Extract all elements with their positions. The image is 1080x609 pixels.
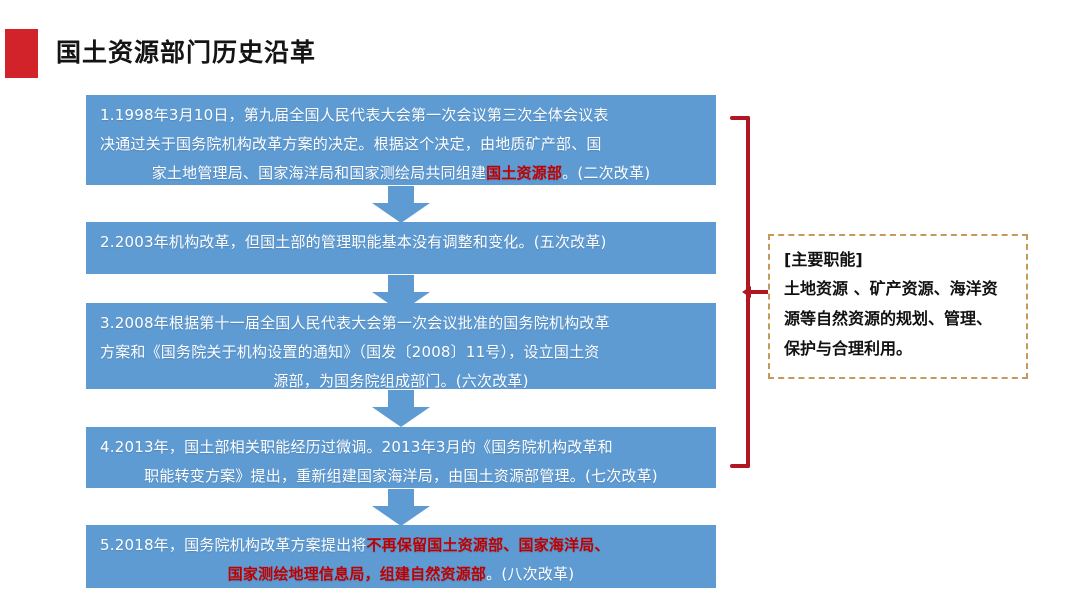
- main-functions-panel: [主要职能] 土地资源 、矿产资源、海洋资源等自然资源的规划、管理、保护与合理利…: [768, 234, 1028, 379]
- flow-step-3[interactable]: 3.2008年根据第十一届全国人民代表大会第一次会议批准的国务院机构改革方案和《…: [86, 303, 716, 389]
- down-arrow-icon: [372, 390, 430, 426]
- flow-step-line: 3.2008年根据第十一届全国人民代表大会第一次会议批准的国务院机构改革: [100, 309, 702, 338]
- main-functions-line: 土地资源 、矿产资源、海洋资: [784, 274, 1012, 304]
- main-functions-body: 土地资源 、矿产资源、海洋资源等自然资源的规划、管理、保护与合理利用。: [784, 274, 1012, 364]
- flow-step-line: 5.2018年，国务院机构改革方案提出将不再保留国土资源部、国家海洋局、: [100, 531, 702, 560]
- flow-step-1[interactable]: 1.1998年3月10日，第九届全国人民代表大会第一次会议第三次全体会议表决通过…: [86, 95, 716, 185]
- flow-step-line: 1.1998年3月10日，第九届全国人民代表大会第一次会议第三次全体会议表: [100, 101, 702, 130]
- bracket-top-tick: [730, 116, 750, 120]
- flow-step-line: 决通过关于国务院机构改革方案的决定。根据这个决定，由地质矿产部、国: [100, 130, 702, 159]
- flow-step-line: 4.2013年，国土部相关职能经历过微调。2013年3月的《国务院机构改革和: [100, 433, 702, 462]
- flow-step-line: 国家测绘地理信息局，组建自然资源部。(八次改革): [100, 560, 702, 589]
- flow-step-line: 2.2003年机构改革，但国土部的管理职能基本没有调整和变化。(五次改革): [100, 228, 702, 257]
- down-arrow-icon: [372, 489, 430, 525]
- plain-text: 方案和《国务院关于机构设置的通知》（国发〔2008〕11号），设立国土资: [100, 343, 599, 361]
- title-accent-block: [5, 29, 38, 78]
- plain-text: 。(二次改革): [562, 164, 650, 182]
- highlighted-text: 不再保留国土资源部、国家海洋局、: [367, 536, 610, 554]
- plain-text: 源部，为国务院组成部门。(六次改革): [273, 372, 528, 390]
- flow-step-4[interactable]: 4.2013年，国土部相关职能经历过微调。2013年3月的《国务院机构改革和职能…: [86, 427, 716, 488]
- highlighted-text: 国土资源部: [486, 164, 562, 182]
- plain-text: 家土地管理局、国家海洋局和国家测绘局共同组建: [152, 164, 486, 182]
- plain-text: 1.1998年3月10日，第九届全国人民代表大会第一次会议第三次全体会议表: [100, 106, 609, 124]
- main-functions-line: 源等自然资源的规划、管理、: [784, 304, 1012, 334]
- plain-text: 职能转变方案》提出，重新组建国家海洋局，由国土资源部管理。(七次改革): [144, 467, 658, 485]
- flow-step-2[interactable]: 2.2003年机构改革，但国土部的管理职能基本没有调整和变化。(五次改革): [86, 222, 716, 274]
- plain-text: 3.2008年根据第十一届全国人民代表大会第一次会议批准的国务院机构改革: [100, 314, 610, 332]
- plain-text: 决通过关于国务院机构改革方案的决定。根据这个决定，由地质矿产部、国: [100, 135, 602, 153]
- flow-step-line: 方案和《国务院关于机构设置的通知》（国发〔2008〕11号），设立国土资: [100, 338, 702, 367]
- flow-step-line: 家土地管理局、国家海洋局和国家测绘局共同组建国土资源部。(二次改革): [100, 159, 702, 188]
- plain-text: 4.2013年，国土部相关职能经历过微调。2013年3月的《国务院机构改革和: [100, 438, 613, 456]
- bracket-arrow-icon: [742, 286, 751, 298]
- plain-text: 2.2003年机构改革，但国土部的管理职能基本没有调整和变化。(五次改革): [100, 233, 607, 251]
- flow-step-5[interactable]: 5.2018年，国务院机构改革方案提出将不再保留国土资源部、国家海洋局、国家测绘…: [86, 525, 716, 588]
- plain-text: 。(八次改革): [486, 565, 574, 583]
- flowchart: 1.1998年3月10日，第九届全国人民代表大会第一次会议第三次全体会议表决通过…: [86, 0, 716, 609]
- main-functions-line: 保护与合理利用。: [784, 334, 1012, 364]
- bracket-bottom-tick: [730, 464, 750, 468]
- highlighted-text: 国家测绘地理信息局，组建自然资源部: [228, 565, 486, 583]
- down-arrow-icon: [372, 186, 430, 222]
- main-functions-heading: [主要职能]: [784, 246, 1012, 274]
- plain-text: 5.2018年，国务院机构改革方案提出将: [100, 536, 367, 554]
- flow-step-line: 职能转变方案》提出，重新组建国家海洋局，由国土资源部管理。(七次改革): [100, 462, 702, 491]
